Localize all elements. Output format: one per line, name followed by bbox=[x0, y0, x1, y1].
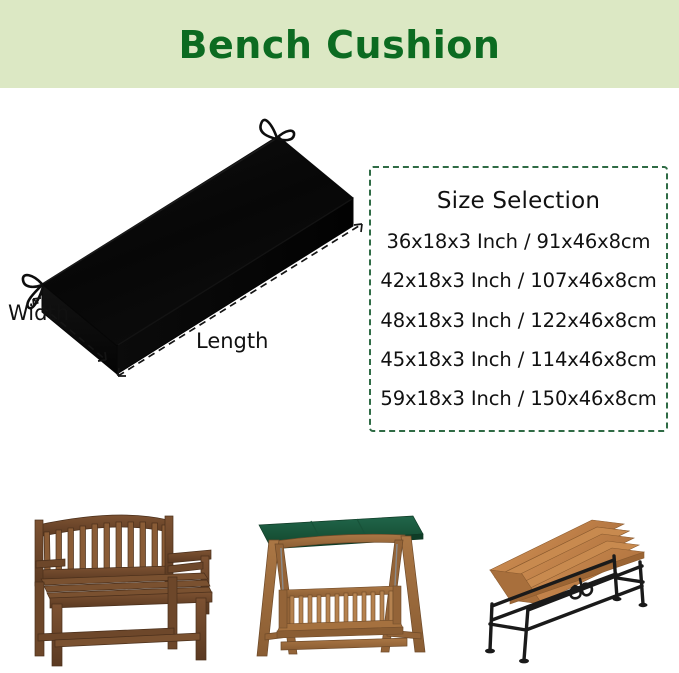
size-option[interactable]: 45x18x3 Inch / 114x46x8cm bbox=[380, 348, 656, 371]
size-option[interactable]: 42x18x3 Inch / 107x46x8cm bbox=[380, 269, 656, 292]
leg-foot-cap bbox=[485, 597, 648, 664]
product-photo-row bbox=[0, 478, 679, 673]
width-label: Width bbox=[8, 301, 69, 325]
size-option[interactable]: 48x18x3 Inch / 122x46x8cm bbox=[380, 309, 656, 332]
product-image-backless-bench bbox=[462, 478, 672, 673]
page-title: Bench Cushion bbox=[179, 26, 501, 64]
swing-chain bbox=[281, 544, 397, 590]
product-image-porch-swing bbox=[245, 478, 455, 673]
length-label: Length bbox=[196, 329, 268, 353]
cushion-diagram: Width Length bbox=[0, 88, 380, 408]
size-selection-box: Size Selection 36x18x3 Inch / 91x46x8cm … bbox=[369, 166, 668, 432]
size-option[interactable]: 59x18x3 Inch / 150x46x8cm bbox=[380, 387, 656, 410]
tie-strap-icon bbox=[260, 120, 294, 140]
size-selection-title: Size Selection bbox=[437, 188, 600, 214]
size-option[interactable]: 36x18x3 Inch / 91x46x8cm bbox=[387, 230, 651, 253]
header-banner: Bench Cushion bbox=[0, 0, 679, 88]
product-image-garden-bench bbox=[8, 478, 233, 673]
